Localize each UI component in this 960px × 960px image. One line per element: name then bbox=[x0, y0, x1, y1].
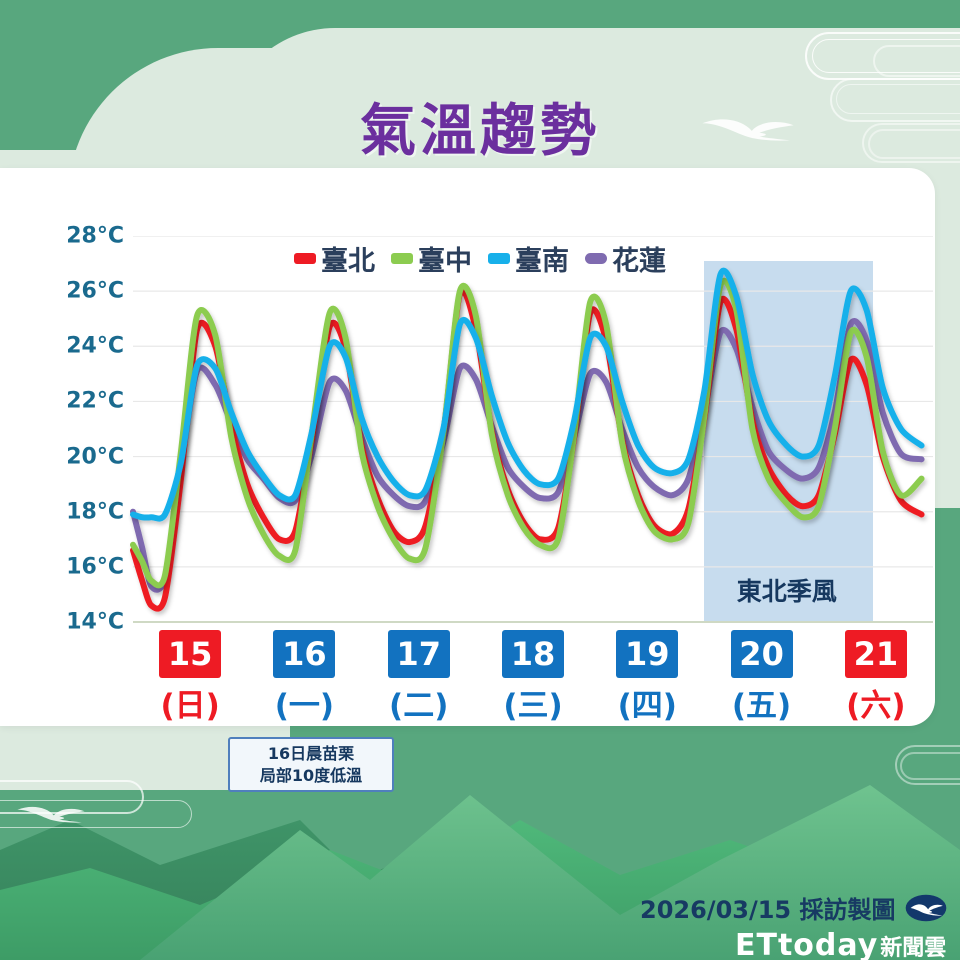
monsoon-band-label: 東北季風 bbox=[737, 572, 837, 608]
date-chip: 18 bbox=[502, 630, 564, 678]
legend-label: 臺北 bbox=[321, 239, 375, 278]
footer-credit: 2026/03/15 採訪製圖 bbox=[640, 890, 947, 925]
legend-swatch-icon bbox=[488, 253, 510, 264]
y-axis-label: 18°C bbox=[66, 499, 124, 524]
date-weekday-label: (四) bbox=[590, 680, 704, 725]
seagull-icon-2 bbox=[16, 800, 86, 828]
legend-swatch-icon bbox=[294, 253, 316, 264]
date-weekday-label: (日) bbox=[133, 680, 247, 725]
date-cell-17[interactable]: 17(二) bbox=[362, 630, 476, 725]
series-line-臺中 bbox=[133, 281, 922, 586]
y-axis-label: 22°C bbox=[66, 389, 124, 414]
date-chip: 20 bbox=[731, 630, 793, 678]
y-axis-labels: 28°C26°C24°C22°C20°C18°C16°C14°C bbox=[46, 236, 124, 622]
date-cell-20[interactable]: 20(五) bbox=[705, 630, 819, 725]
cwa-seagull-logo bbox=[905, 892, 947, 924]
date-weekday-label: (六) bbox=[819, 680, 933, 725]
note-line-1: 16日晨苗栗 bbox=[236, 743, 386, 765]
legend-swatch-icon bbox=[391, 253, 413, 264]
y-axis-label: 26°C bbox=[66, 279, 124, 304]
date-weekday-label: (五) bbox=[705, 680, 819, 725]
date-weekday-label: (一) bbox=[247, 680, 361, 725]
date-chip: 21 bbox=[845, 630, 907, 678]
date-chip: 15 bbox=[159, 630, 221, 678]
y-axis-label: 24°C bbox=[66, 334, 124, 359]
legend-item-taichung[interactable]: 臺中 bbox=[391, 239, 472, 278]
date-weekday-label: (二) bbox=[362, 680, 476, 725]
legend-label: 臺南 bbox=[515, 239, 569, 278]
date-cell-15[interactable]: 15(日) bbox=[133, 630, 247, 725]
y-axis-label: 16°C bbox=[66, 554, 124, 579]
date-cell-16[interactable]: 16(一) bbox=[247, 630, 361, 725]
infographic-canvas: 氣溫趨勢 28°C26°C24°C22°C20°C18°C16°C14°C 東北… bbox=[0, 0, 960, 960]
date-chip: 17 bbox=[388, 630, 450, 678]
date-cell-19[interactable]: 19(四) bbox=[590, 630, 704, 725]
date-chip: 16 bbox=[273, 630, 335, 678]
x-axis-line bbox=[133, 621, 933, 623]
wave-line-7 bbox=[873, 45, 960, 77]
credit-text: 2026/03/15 採訪製圖 bbox=[640, 890, 895, 925]
brand-en: ETtoday bbox=[735, 928, 878, 960]
series-line-臺北 bbox=[133, 291, 922, 609]
page-title: 氣溫趨勢 bbox=[0, 86, 960, 167]
legend-label: 花蓮 bbox=[612, 239, 666, 278]
brand-cn: 新聞雲 bbox=[880, 930, 946, 960]
legend-swatch-icon bbox=[585, 253, 607, 264]
wave-line-11 bbox=[900, 752, 960, 780]
note-line-2: 局部10度低溫 bbox=[236, 765, 386, 787]
chart-plot-area bbox=[133, 236, 933, 622]
date-weekday-label: (三) bbox=[476, 680, 590, 725]
low-temperature-note: 16日晨苗栗 局部10度低溫 bbox=[228, 737, 394, 792]
legend-item-tainan[interactable]: 臺南 bbox=[488, 239, 569, 278]
date-cell-18[interactable]: 18(三) bbox=[476, 630, 590, 725]
date-chip: 19 bbox=[616, 630, 678, 678]
date-cell-21[interactable]: 21(六) bbox=[819, 630, 933, 725]
temperature-series-lines bbox=[133, 236, 933, 622]
brand-logo: ETtoday 新聞雲 bbox=[735, 928, 946, 960]
y-axis-label: 20°C bbox=[66, 444, 124, 469]
legend-label: 臺中 bbox=[418, 239, 472, 278]
legend-item-hualien[interactable]: 花蓮 bbox=[585, 239, 666, 278]
chart-legend: 臺北臺中臺南花蓮 bbox=[0, 239, 960, 278]
date-axis: 15(日)16(一)17(二)18(三)19(四)20(五)21(六) bbox=[133, 630, 933, 730]
legend-item-taipei[interactable]: 臺北 bbox=[294, 239, 375, 278]
y-axis-label: 14°C bbox=[66, 610, 124, 635]
